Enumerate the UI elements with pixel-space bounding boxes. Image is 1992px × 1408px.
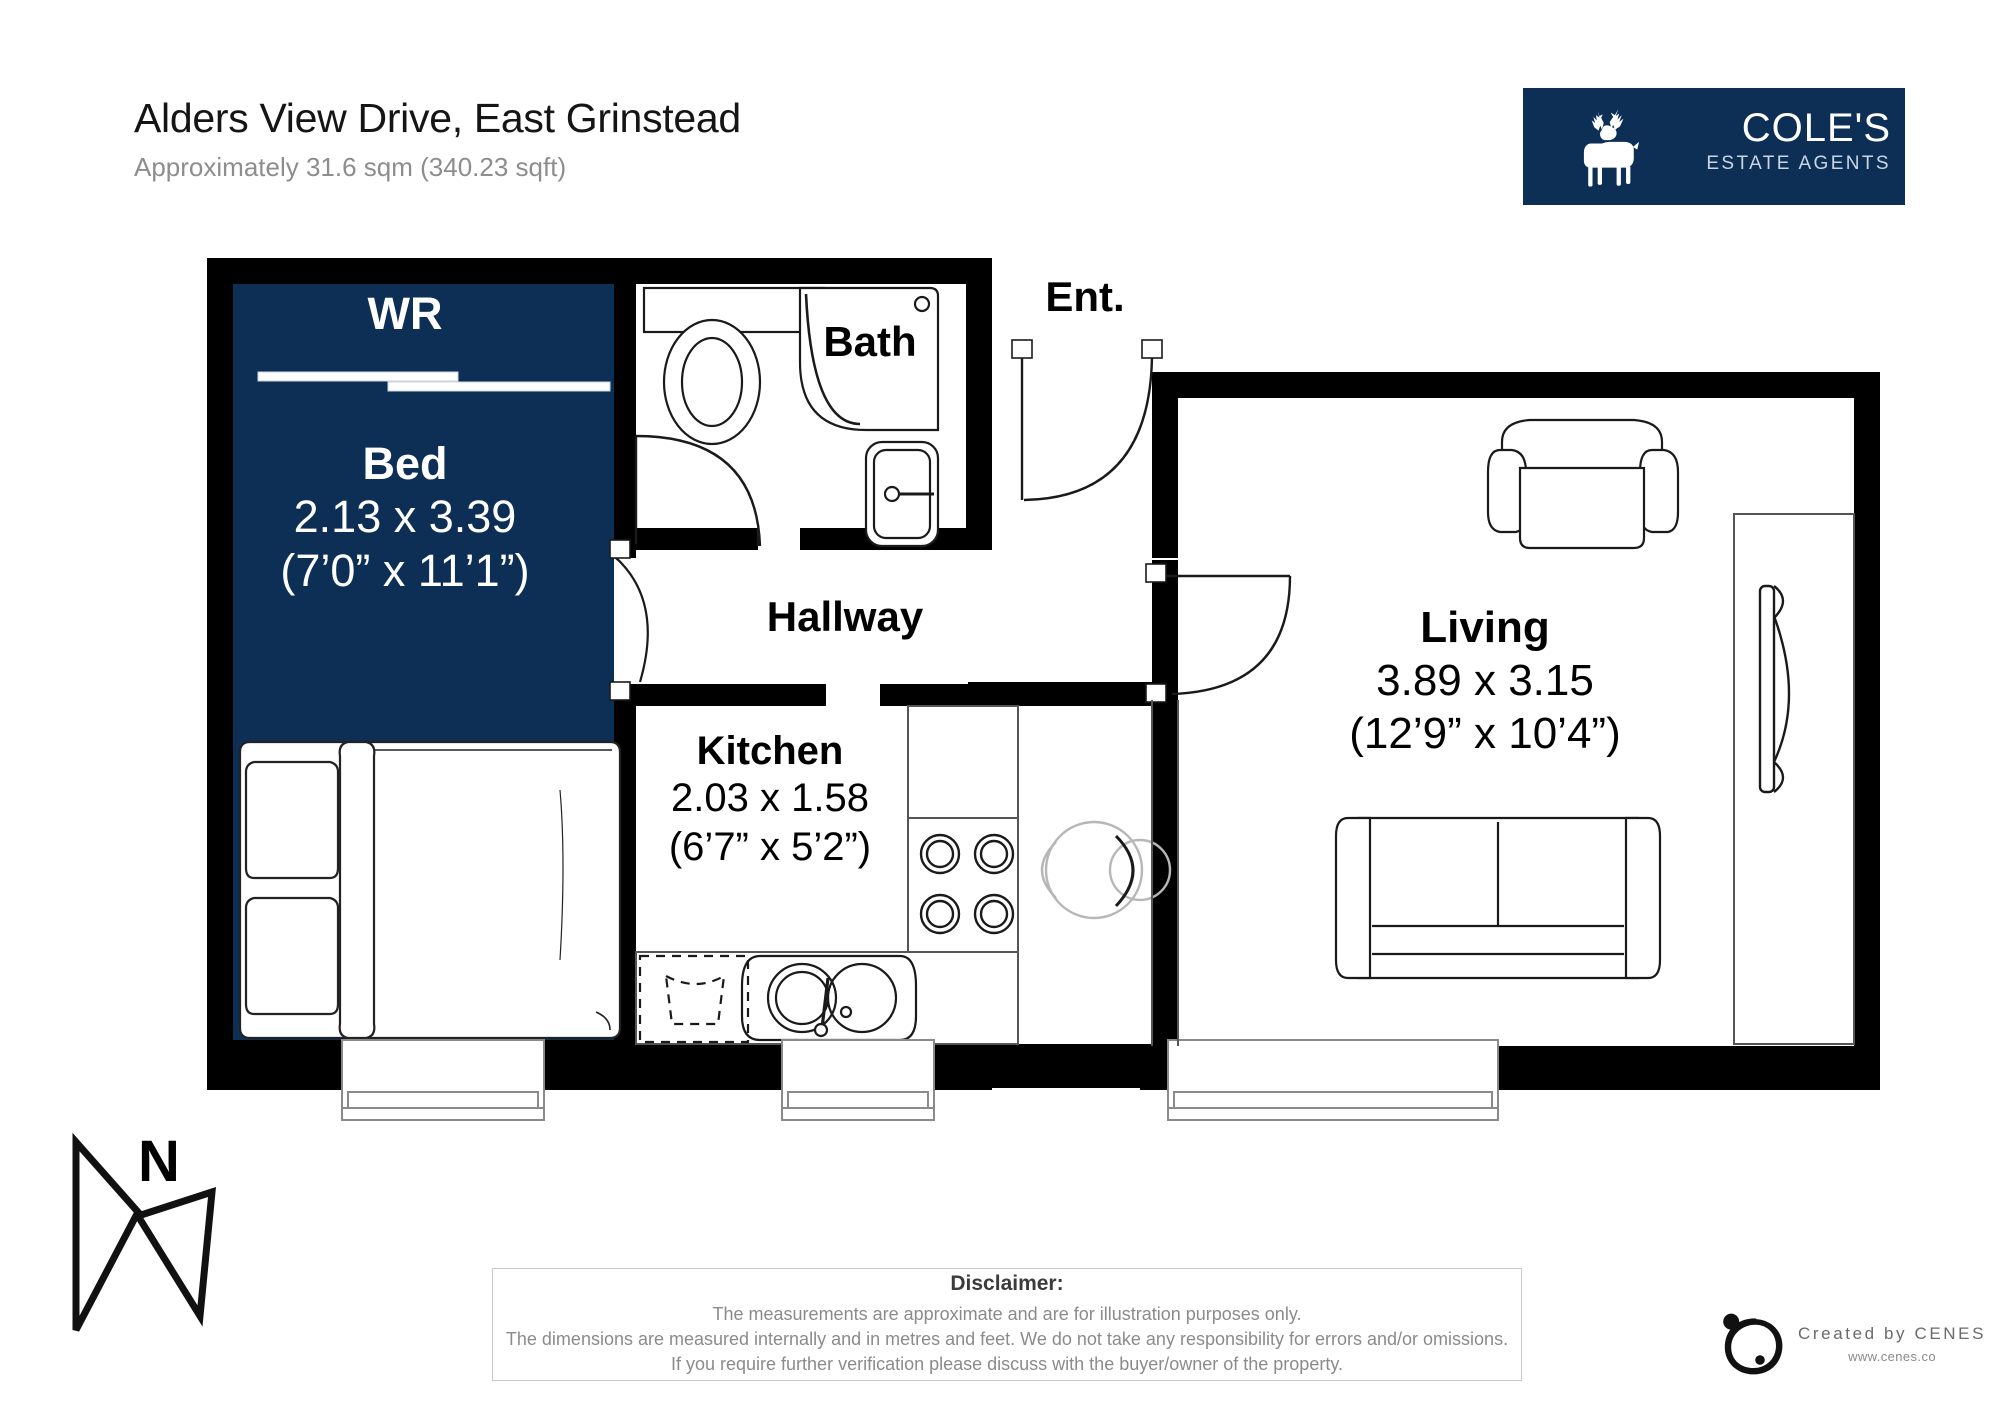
disclaimer-box: Disclaimer: The measurements are approxi… — [492, 1268, 1522, 1381]
credit-line-2: www.cenes.co — [1798, 1349, 1986, 1364]
floor-plan-drawing — [0, 0, 1992, 1408]
double-bed — [240, 742, 620, 1038]
credit-block: Created by CENES www.cenes.co — [1712, 1300, 1980, 1392]
credit-line-1: Created by CENES — [1798, 1324, 1986, 1344]
window-living — [1168, 1040, 1498, 1120]
disclaimer-line-3: If you require further verification plea… — [671, 1352, 1343, 1377]
floor-plan-page: Alders View Drive, East Grinstead Approx… — [0, 0, 1992, 1408]
armchair — [1488, 420, 1678, 548]
tv-unit — [1734, 514, 1854, 1044]
disclaimer-line-1: The measurements are approximate and are… — [713, 1302, 1302, 1327]
north-label: N — [138, 1128, 180, 1195]
cenes-circle-icon — [1712, 1304, 1792, 1384]
window-kitchen — [782, 1040, 934, 1120]
disclaimer-title: Disclaimer: — [950, 1272, 1063, 1296]
sofa — [1336, 818, 1660, 978]
credit-text: Created by CENES www.cenes.co — [1798, 1324, 1986, 1364]
disclaimer-line-2: The dimensions are measured internally a… — [506, 1327, 1508, 1352]
window-bedroom — [342, 1040, 544, 1120]
double-sink — [742, 956, 916, 1040]
